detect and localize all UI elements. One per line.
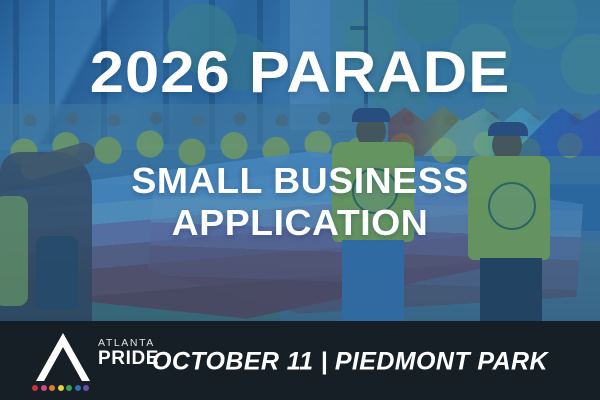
footer-bar: ATLANTA PRIDE OCTOBER 11|PIEDMONT PARK: [0, 321, 600, 400]
rainbow-dots: [32, 385, 89, 391]
event-details: OCTOBER 11|PIEDMONT PARK: [152, 348, 548, 377]
pride-parade-promo-poster: 2026 PARADE SMALL BUSINESS APPLICATION A…: [0, 0, 600, 400]
parade-photo: 2026 PARADE SMALL BUSINESS APPLICATION: [0, 0, 600, 321]
subtitle-line-2: APPLICATION: [0, 202, 600, 244]
pride-a-mark-icon: [32, 331, 94, 383]
detail-separator: |: [313, 348, 334, 376]
poster-subtitle: SMALL BUSINESS APPLICATION: [0, 160, 600, 244]
event-location: PIEDMONT PARK: [335, 348, 548, 376]
atlanta-pride-logo: ATLANTA PRIDE: [28, 329, 148, 395]
page-title: 2026 PARADE: [0, 42, 600, 104]
subtitle-line-1: SMALL BUSINESS: [131, 160, 468, 201]
event-date: OCTOBER 11: [152, 348, 313, 376]
